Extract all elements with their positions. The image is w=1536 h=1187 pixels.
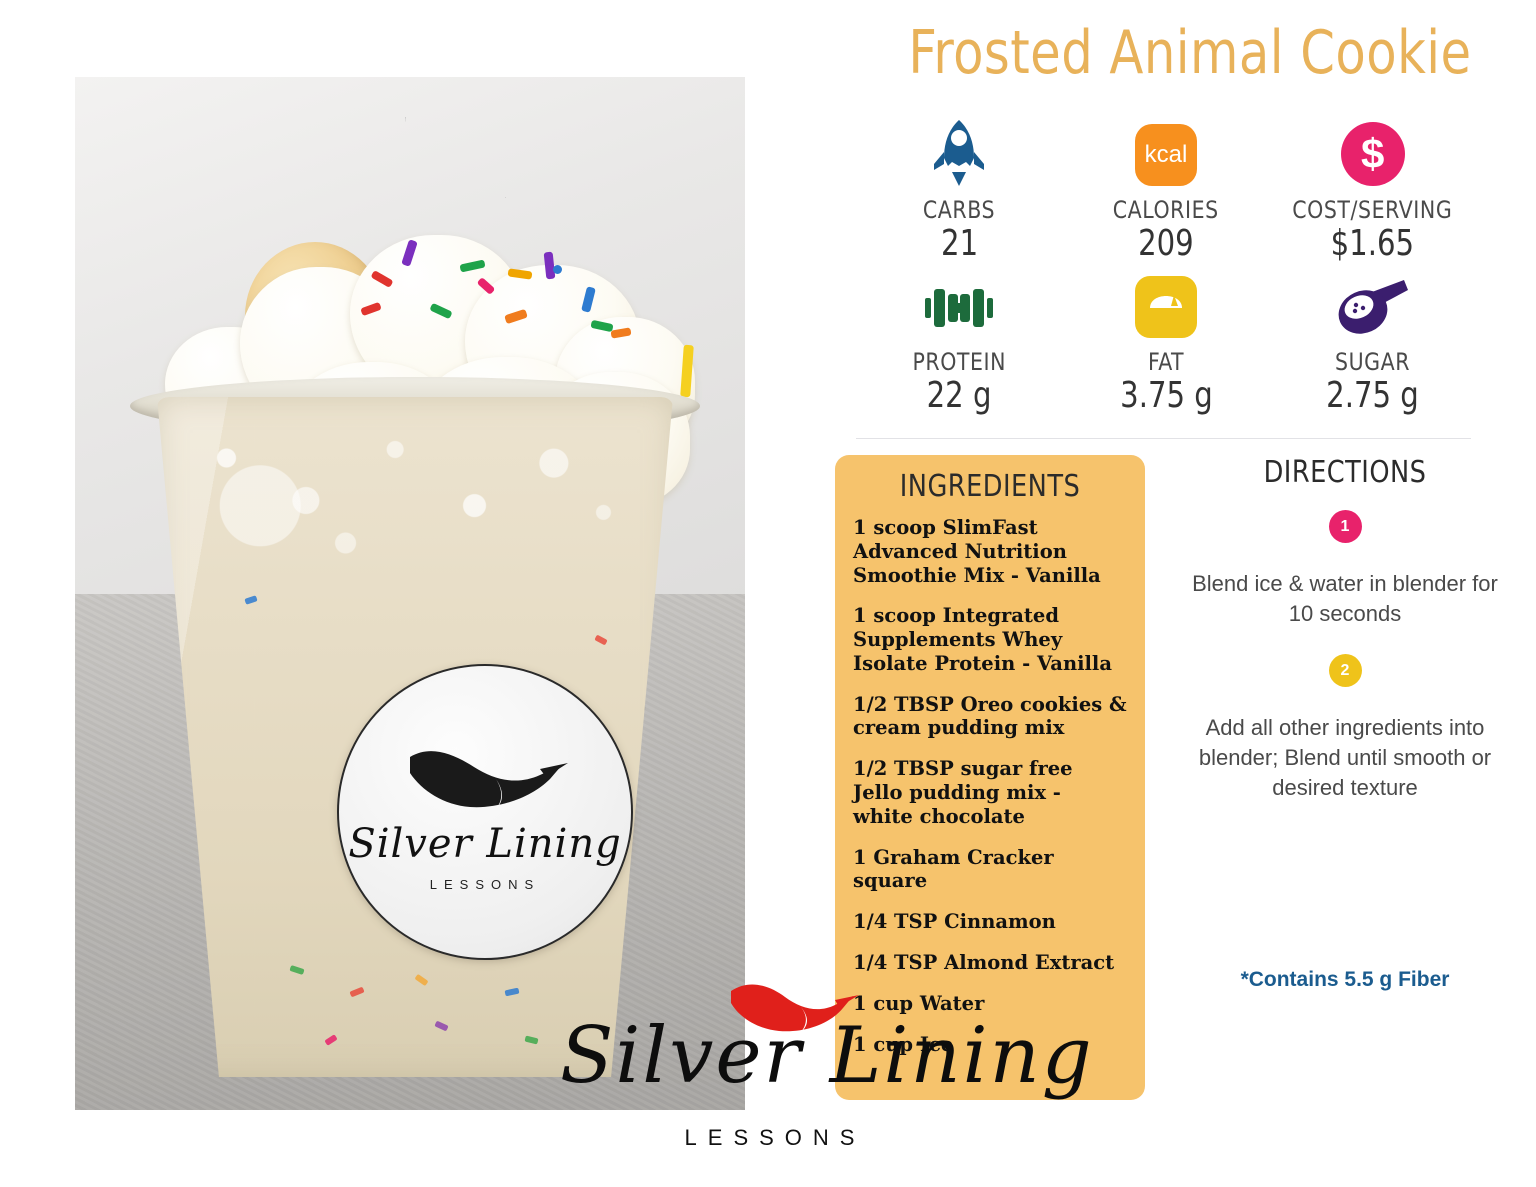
nutrition-cell-cost: $ COST/SERVING $1.65 <box>1269 118 1476 264</box>
ingredient-item: 1 scoop SlimFast Advanced Nutrition Smoo… <box>853 516 1127 587</box>
nutrition-label: SUGAR <box>1335 348 1410 376</box>
spoon-icon <box>1334 270 1412 338</box>
page-title: Frosted Animal Cookie <box>896 18 1485 88</box>
direction-step-1: 1 Blend ice & water in blender for 10 se… <box>1160 510 1530 628</box>
directions-heading: DIRECTIONS <box>1169 455 1521 490</box>
kcal-icon: kcal <box>1135 118 1197 186</box>
ingredient-item: 1/4 TSP Cinnamon <box>853 910 1127 934</box>
nutrition-value: 21 <box>941 223 978 264</box>
recipe-photo: Silver Lining LESSONS <box>75 77 745 1110</box>
nutrition-value: $1.65 <box>1331 223 1414 264</box>
step-text: Add all other ingredients into blender; … <box>1185 713 1505 802</box>
cup-logo-sticker: Silver Lining LESSONS <box>337 664 633 960</box>
shake-bubbles <box>167 407 663 577</box>
fiber-note: *Contains 5.5 g Fiber <box>1160 968 1530 992</box>
nutrition-cell-fat: FAT 3.75 g <box>1063 270 1270 416</box>
brand-lessons-text: LESSONS <box>560 1125 990 1151</box>
nutrition-cell-protein: PROTEIN 22 g <box>856 270 1063 416</box>
dollar-icon: $ <box>1341 118 1405 186</box>
nutrition-value: 3.75 g <box>1120 375 1213 416</box>
step-badge: 1 <box>1329 510 1362 543</box>
nutrition-grid: CARBS 21 kcal CALORIES 209 $ COST/SERVIN… <box>856 118 1476 416</box>
dumbbell-icon <box>923 270 995 338</box>
nutrition-label: CARBS <box>923 196 995 224</box>
nutrition-cell-carbs: CARBS 21 <box>856 118 1063 264</box>
nutrition-cell-calories: kcal CALORIES 209 <box>1063 118 1270 264</box>
section-divider <box>856 438 1471 439</box>
ingredient-item: 1/2 TBSP sugar free Jello pudding mix - … <box>853 757 1127 828</box>
nutrition-value: 22 g <box>927 375 992 416</box>
scale-icon <box>1135 270 1197 338</box>
nutrition-value: 2.75 g <box>1326 375 1419 416</box>
step-badge: 2 <box>1329 654 1362 687</box>
brand-script-text: Silver Lining <box>560 1011 990 1101</box>
nutrition-value: 209 <box>1138 223 1194 264</box>
brand-logo: Silver Lining LESSONS <box>560 975 990 1175</box>
ingredient-item: 1 scoop Integrated Supplements Whey Isol… <box>853 604 1127 675</box>
sticker-script-text: Silver Lining <box>348 821 621 867</box>
ingredient-item: 1/4 TSP Almond Extract <box>853 951 1127 975</box>
nutrition-label: FAT <box>1148 348 1184 376</box>
rocket-icon <box>932 118 986 186</box>
nutrition-label: COST/SERVING <box>1293 196 1453 224</box>
directions-steps: 1 Blend ice & water in blender for 10 se… <box>1160 510 1530 828</box>
sticker-lessons-text: LESSONS <box>430 877 540 892</box>
bird-icon <box>400 739 570 817</box>
direction-step-2: 2 Add all other ingredients into blender… <box>1160 654 1530 802</box>
ingredients-heading: INGREDIENTS <box>860 469 1120 504</box>
step-text: Blend ice & water in blender for 10 seco… <box>1185 569 1505 628</box>
nutrition-label: CALORIES <box>1113 196 1219 224</box>
ingredient-item: 1 Graham Cracker square <box>853 846 1127 894</box>
kcal-badge-text: kcal <box>1145 141 1188 169</box>
nutrition-label: PROTEIN <box>913 348 1007 376</box>
dollar-badge-text: $ <box>1361 133 1384 175</box>
ingredient-item: 1/2 TBSP Oreo cookies & cream pudding mi… <box>853 693 1127 741</box>
nutrition-cell-sugar: SUGAR 2.75 g <box>1269 270 1476 416</box>
